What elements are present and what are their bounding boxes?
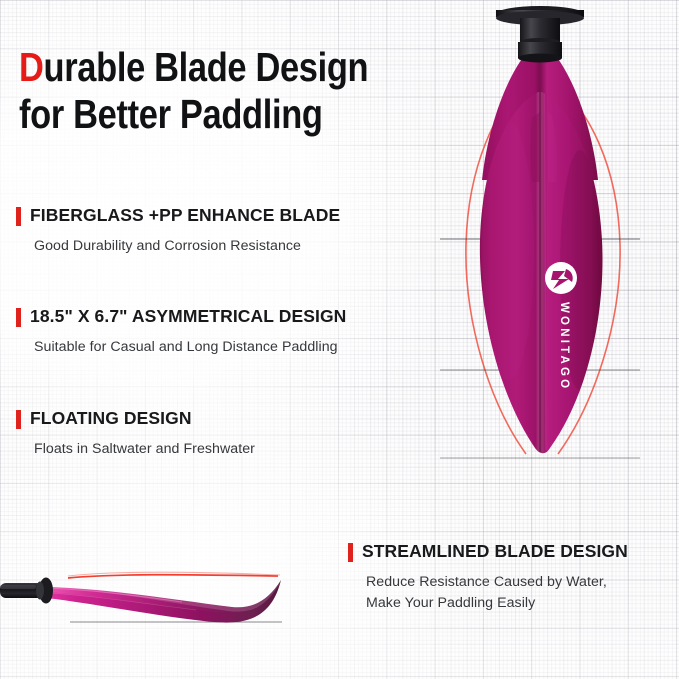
feature-subtitle-line1: Reduce Resistance Caused by Water,	[366, 572, 666, 593]
feature-item-floating: FLOATING DESIGN Floats in Saltwater and …	[16, 408, 255, 460]
page-title: Durable Blade Design for Better Paddling	[19, 44, 355, 138]
feature-heading: STREAMLINED BLADE DESIGN	[348, 541, 666, 562]
feature-item-fiberglass: FIBERGLASS +PP ENHANCE BLADE Good Durabi…	[16, 205, 340, 257]
feature-title: FIBERGLASS +PP ENHANCE BLADE	[30, 205, 340, 226]
edge-blade-body	[46, 580, 281, 623]
page-title-line1: urable Blade Design	[44, 44, 369, 90]
paddle-blade-front-view: WONITAGO	[440, 0, 640, 470]
feature-heading: 18.5" X 6.7" ASYMMETRICAL DESIGN	[16, 306, 346, 327]
paddle-blade-edge-view	[0, 545, 345, 660]
feature-subtitle: Suitable for Casual and Long Distance Pa…	[34, 337, 346, 358]
feature-title: 18.5" X 6.7" ASYMMETRICAL DESIGN	[30, 306, 346, 327]
feature-item-asymmetrical: 18.5" X 6.7" ASYMMETRICAL DESIGN Suitabl…	[16, 306, 346, 358]
page-title-accent-letter: D	[19, 44, 44, 90]
paddle-shaft-ferrule	[496, 6, 584, 63]
feature-heading: FLOATING DESIGN	[16, 408, 255, 429]
feature-subtitle-line2: Make Your Paddling Easily	[366, 593, 666, 614]
feature-title: STREAMLINED BLADE DESIGN	[362, 541, 628, 562]
feature-heading: FIBERGLASS +PP ENHANCE BLADE	[16, 205, 340, 226]
brand-name-vertical: WONITAGO	[558, 302, 570, 391]
bullet-marker-icon	[16, 410, 21, 429]
edge-paddle-shaft	[0, 578, 53, 604]
feature-subtitle: Good Durability and Corrosion Resistance	[34, 236, 340, 257]
feature-title: FLOATING DESIGN	[30, 408, 192, 429]
wonitago-logo-icon	[545, 262, 577, 294]
bullet-marker-icon	[16, 207, 21, 226]
blade-body	[480, 56, 603, 456]
feature-subtitle: Floats in Saltwater and Freshwater	[34, 439, 255, 460]
bullet-marker-icon	[16, 308, 21, 327]
bullet-marker-icon	[348, 543, 353, 562]
feature-subtitle: Reduce Resistance Caused by Water, Make …	[366, 572, 666, 614]
feature-item-streamlined: STREAMLINED BLADE DESIGN Reduce Resistan…	[348, 541, 666, 614]
infographic-page: Durable Blade Design for Better Paddling…	[0, 0, 679, 679]
blade-curve-guide	[68, 575, 278, 578]
page-title-line2: for Better Paddling	[19, 91, 355, 138]
